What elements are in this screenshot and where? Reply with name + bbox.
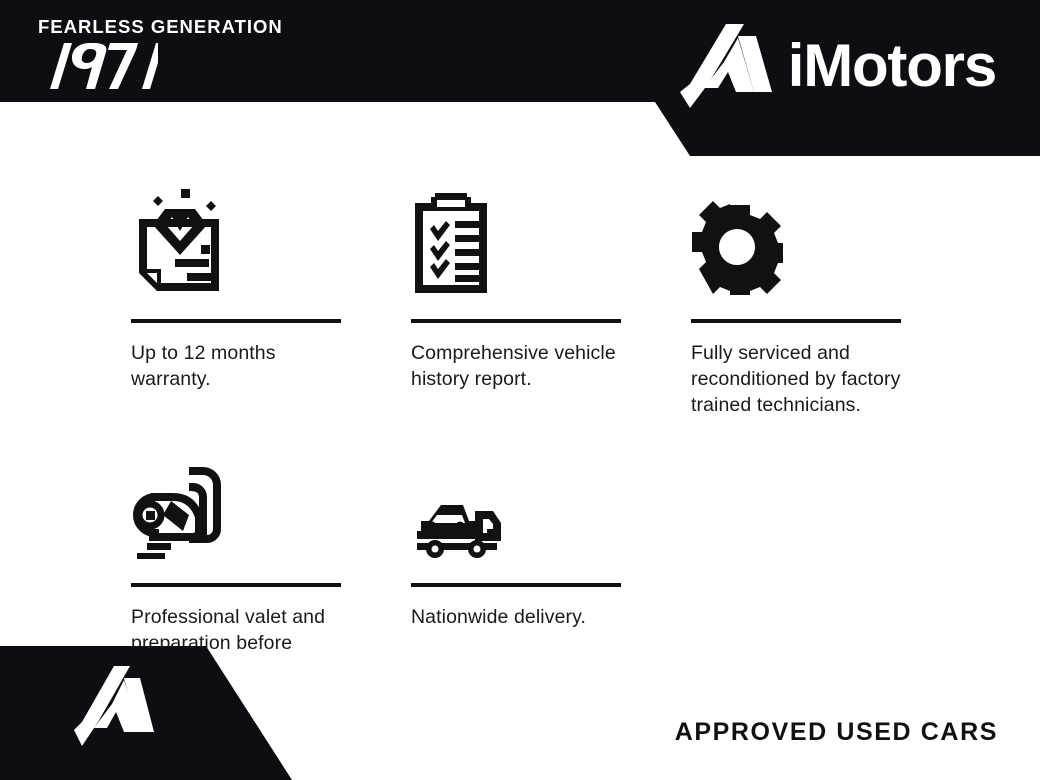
feature-grid: Up to 12 months warranty. [131,185,921,683]
brand-wordmark: iMotors [788,36,996,96]
warranty-certificate-icon [131,187,227,295]
feature-row-1: Up to 12 months warranty. [131,185,921,419]
feature-item-delivery: Nationwide delivery. [411,449,621,683]
gear-icon [691,199,783,295]
approved-used-cars-tagline: APPROVED USED CARS [675,718,998,747]
feature-label: Up to 12 months warranty. [131,341,341,393]
brand-lockup-header: iMotors [680,22,996,110]
feature-icon-slot [411,449,621,559]
feature-icon-slot [411,185,621,295]
feature-icon-slot [131,185,341,295]
feature-label: Nationwide delivery. [411,605,621,631]
feature-divider [131,583,341,587]
feature-divider [411,583,621,587]
feature-divider [691,319,901,323]
fearless-generation-tagline: FEARLESS GENERATION [38,18,283,37]
year-1971-logotype [38,43,158,89]
feature-divider [131,319,341,323]
feature-item-history-report: Comprehensive vehicle history report. [411,185,621,419]
feature-icon-slot [131,449,341,559]
clipboard-checklist-icon [411,191,491,295]
feature-row-2: Professional valet and preparation befor… [131,449,921,683]
feature-label: Fully serviced and reconditioned by fact… [691,341,901,419]
feature-divider [411,319,621,323]
vacuum-cleaner-icon [131,457,223,559]
feature-item-empty [691,449,901,683]
header-tagline-block: FEARLESS GENERATION [38,18,283,94]
chevron-logo-icon [74,664,154,758]
chevron-logo-icon [680,22,772,110]
feature-item-warranty: Up to 12 months warranty. [131,185,341,419]
car-transporter-truck-icon [411,493,503,559]
feature-label: Comprehensive vehicle history report. [411,341,621,393]
feature-item-serviced: Fully serviced and reconditioned by fact… [691,185,901,419]
feature-icon-slot [691,185,901,295]
